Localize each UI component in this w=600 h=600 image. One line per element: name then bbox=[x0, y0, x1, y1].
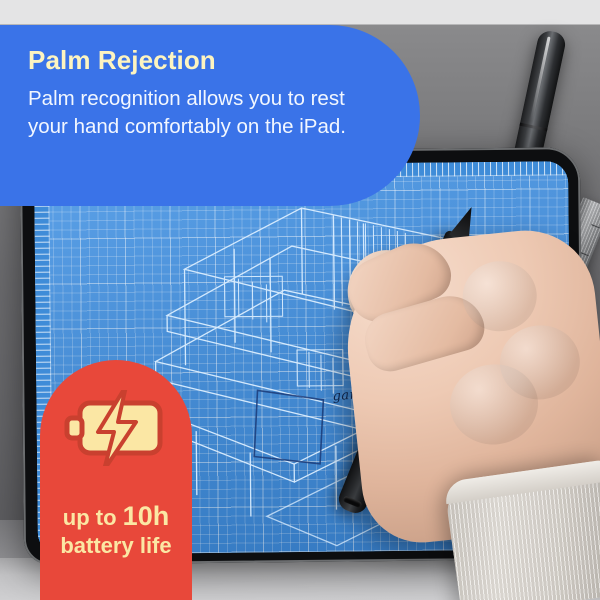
sweater-sleeve-cuff bbox=[443, 459, 600, 600]
banner-title: Palm Rejection bbox=[28, 47, 348, 74]
product-feature-card: garden terrace wall ostenhal panorama vi… bbox=[0, 0, 600, 600]
banner-description: Palm recognition allows you to rest your… bbox=[28, 85, 348, 141]
palm-rejection-banner: Palm Rejection Palm recognition allows y… bbox=[0, 25, 420, 206]
battery-life-badge: up to 10h battery life bbox=[40, 360, 192, 600]
battery-hours-prefix: up to bbox=[63, 505, 123, 530]
battery-hours-value: 10h bbox=[123, 501, 170, 531]
battery-charging-icon bbox=[64, 390, 168, 466]
stylus-charging-port bbox=[342, 496, 362, 509]
battery-hours-line: up to 10h bbox=[40, 500, 192, 533]
battery-life-label: battery life bbox=[40, 533, 192, 560]
stylus-cap-seam bbox=[520, 123, 548, 132]
